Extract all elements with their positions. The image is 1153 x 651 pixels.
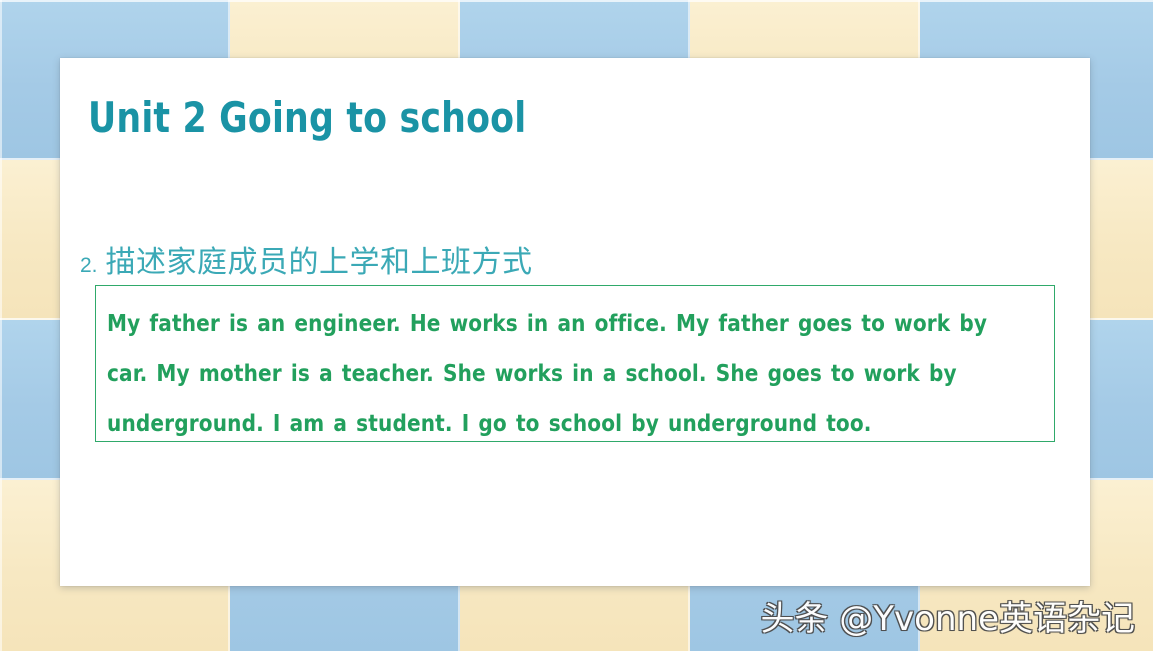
page-title: Unit 2 Going to school: [88, 94, 526, 142]
passage-box: My father is an engineer. He works in an…: [95, 285, 1055, 442]
presentation-slide: Unit 2 Going to school 2. 描述家庭成员的上学和上班方式…: [0, 0, 1153, 651]
passage-text: My father is an engineer. He works in an…: [107, 299, 1015, 449]
watermark: 头条 @Yvonne英语杂记: [760, 599, 1135, 639]
background-seam: [0, 0, 1153, 2]
background-seam: [0, 0, 2, 651]
subtitle-label: 描述家庭成员的上学和上班方式: [106, 246, 533, 280]
content-card: Unit 2 Going to school 2. 描述家庭成员的上学和上班方式…: [60, 58, 1090, 586]
subtitle-number: 2.: [80, 254, 98, 278]
subtitle: 2. 描述家庭成员的上学和上班方式: [80, 246, 533, 280]
